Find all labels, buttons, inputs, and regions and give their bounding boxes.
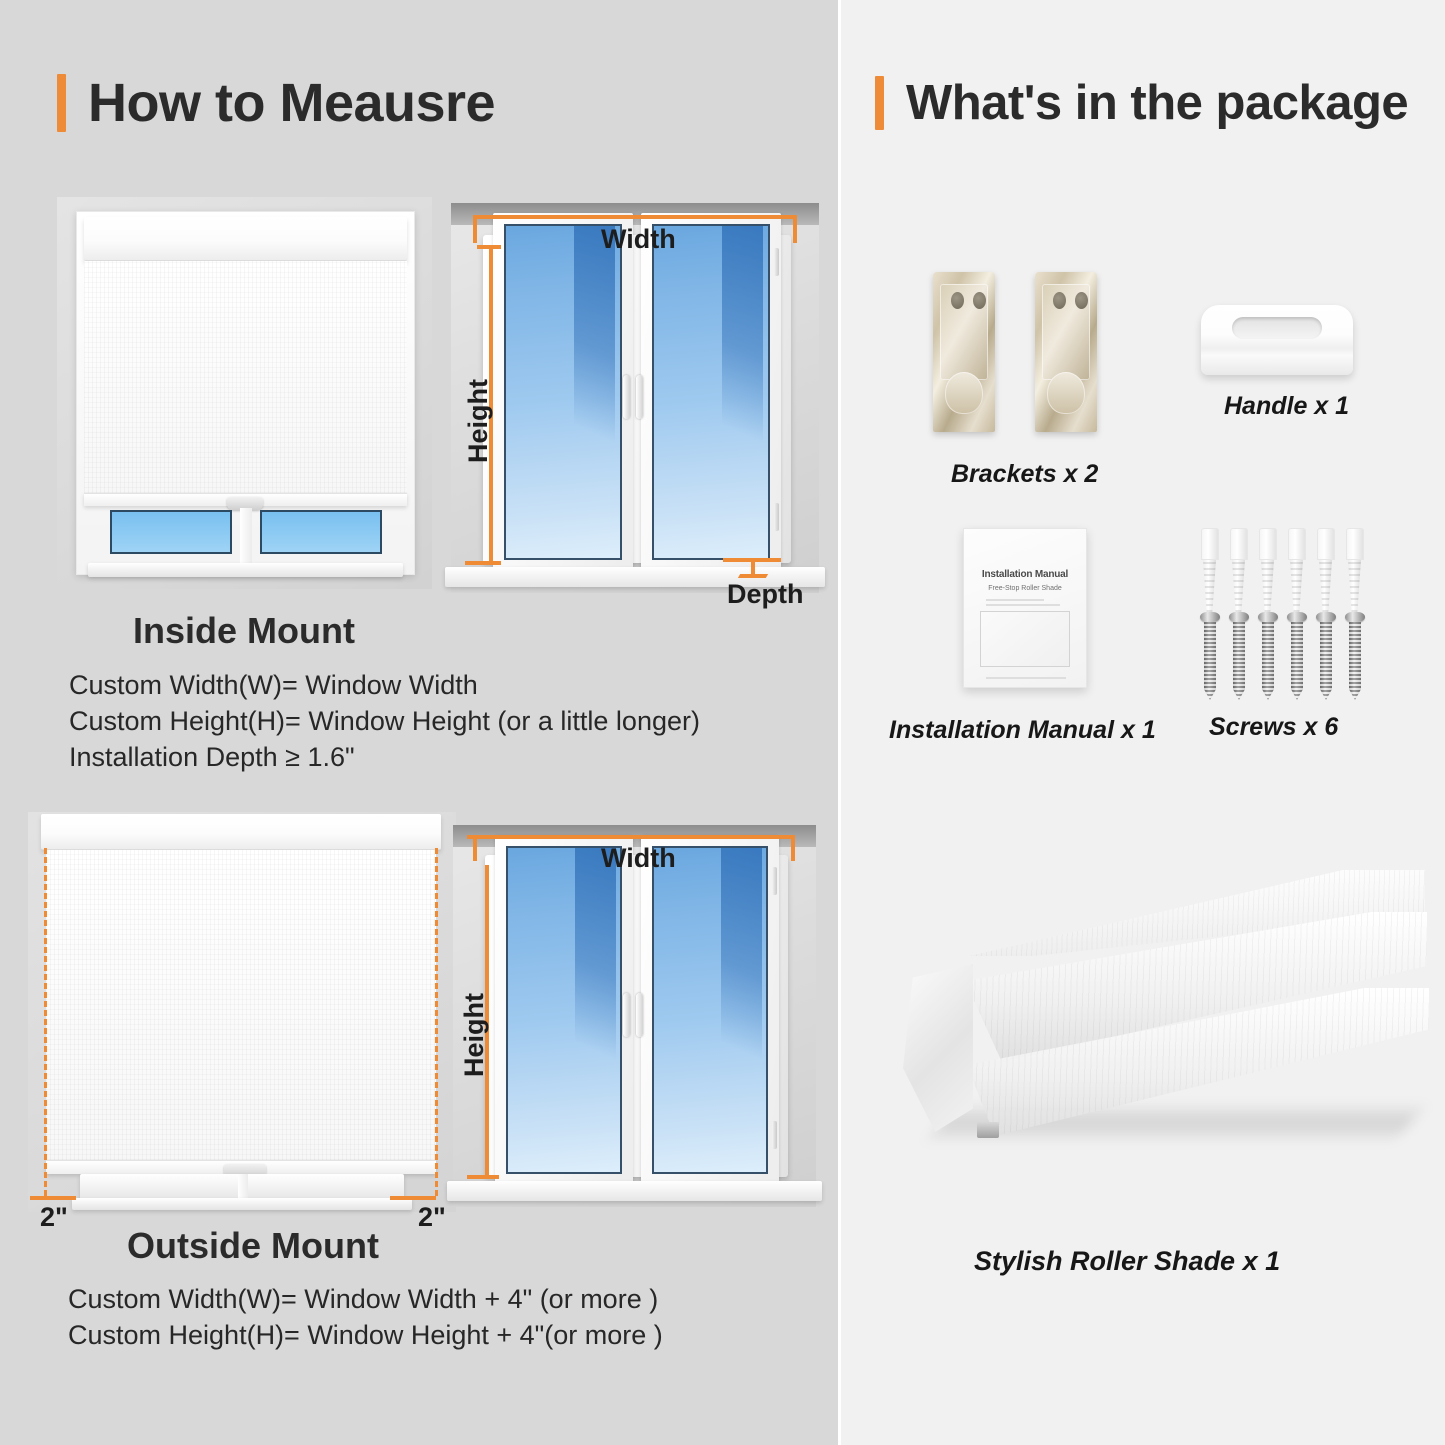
depth-measure-base — [738, 574, 768, 578]
bracket-icon — [1035, 272, 1097, 432]
package-heading: What's in the package — [875, 76, 1408, 130]
screw-icon — [1316, 612, 1336, 700]
overhang-guide-left — [44, 848, 47, 1196]
handle-icon — [623, 993, 630, 1037]
shade-fabric — [46, 850, 436, 1160]
how-to-measure-panel: How to Meausre — [0, 0, 838, 1445]
manual-cover-rule — [986, 604, 1060, 606]
window-glass-left — [504, 224, 622, 560]
width-measure-cap-right — [793, 215, 797, 243]
outside-mount-title: Outside Mount — [127, 1228, 379, 1264]
inside-mount-shade-illustration — [57, 197, 432, 589]
window-sill — [88, 563, 403, 577]
hinge-icon — [774, 248, 779, 276]
outside-mount-window-diagram: Width Height — [453, 825, 816, 1207]
manual-cover-rule — [986, 677, 1066, 679]
manual-icon: Installation Manual Free-Stop Roller Sha… — [963, 528, 1087, 688]
outside-mount-line-1: Custom Width(W)= Window Width + 4" (or m… — [68, 1286, 658, 1313]
window-glass-left — [506, 846, 622, 1174]
bracket-icon — [933, 272, 995, 432]
handle-icon — [623, 375, 630, 419]
accent-bar-icon — [875, 76, 884, 130]
manual-cover-rule — [986, 599, 1044, 601]
wall-anchor-icon — [1259, 528, 1277, 612]
inside-mount-window-diagram: Width Height Depth — [451, 203, 819, 593]
depth-label: Depth — [727, 581, 804, 608]
bracket-hole — [973, 292, 986, 309]
wall-anchor-icon — [1346, 528, 1364, 612]
height-label: Height — [461, 993, 488, 1077]
bracket-hole — [951, 292, 964, 309]
overhang-arrow-left — [30, 1196, 76, 1200]
outside-mount-line-2: Custom Height(H)= Window Height + 4"(or … — [68, 1322, 663, 1349]
window-mullion — [238, 1174, 248, 1200]
width-measure-cap-right — [791, 835, 795, 861]
handle-icon — [1201, 305, 1353, 375]
shade-fabric — [84, 261, 407, 493]
window-handles — [623, 375, 643, 419]
height-measure-cap-top — [467, 835, 499, 839]
manual-label: Installation Manual x 1 — [889, 718, 1156, 743]
shade-valance — [41, 814, 441, 850]
hinge-icon — [772, 1121, 777, 1149]
brackets-item — [931, 270, 1121, 450]
how-to-measure-title: How to Meausre — [88, 76, 495, 130]
height-measure-cap-top — [477, 245, 501, 249]
width-measure-line — [473, 835, 795, 839]
window-sill — [447, 1181, 822, 1201]
window-glass-right — [652, 846, 768, 1174]
window-sash-left — [493, 213, 633, 571]
brackets-label: Brackets x 2 — [951, 462, 1098, 487]
wall-anchor-icon — [1230, 528, 1248, 612]
hinge-icon — [772, 867, 777, 895]
window-sash-right — [641, 213, 781, 571]
width-measure-line — [473, 215, 797, 219]
window-mullion — [240, 508, 252, 570]
window-glass-right — [260, 510, 382, 554]
shade-valance — [84, 217, 407, 261]
window-sash-left — [495, 835, 633, 1185]
infographic-page: How to Meausre — [0, 0, 1445, 1445]
handle-icon — [636, 375, 643, 419]
overhang-arrow-right — [390, 1196, 436, 1200]
inside-mount-line-3: Installation Depth ≥ 1.6" — [69, 744, 355, 771]
window-handles — [623, 993, 643, 1037]
accent-bar-icon — [57, 74, 66, 132]
screw-icon — [1345, 612, 1365, 700]
width-label: Width — [601, 845, 676, 872]
screw-icon — [1287, 612, 1307, 700]
manual-cover-title: Installation Manual — [964, 569, 1086, 580]
screw-icon — [1229, 612, 1249, 700]
handle-label: Handle x 1 — [1224, 394, 1349, 419]
window-sash-right — [641, 835, 779, 1185]
inside-mount-line-2: Custom Height(H)= Window Height (or a li… — [69, 708, 700, 735]
overhang-label-left: 2" — [40, 1204, 68, 1231]
package-contents-panel: What's in the package Brackets x 2 Handl… — [838, 0, 1445, 1445]
height-measure-cap-bottom — [467, 1175, 499, 1179]
overhang-label-right: 2" — [418, 1204, 446, 1231]
hinge-icon — [774, 503, 779, 531]
overhang-guide-right — [435, 848, 438, 1196]
width-measure-cap-left — [473, 215, 477, 243]
width-label: Width — [601, 226, 676, 253]
wall-anchor-icon — [1317, 528, 1335, 612]
inside-mount-title: Inside Mount — [133, 613, 355, 649]
outside-mount-shade-illustration — [28, 812, 456, 1212]
roller-shade-label: Stylish Roller Shade x 1 — [974, 1248, 1280, 1275]
screw-icon — [1258, 612, 1278, 700]
how-to-measure-heading: How to Meausre — [57, 74, 495, 132]
screw-icon — [1200, 612, 1220, 700]
manual-cover-subtitle: Free-Stop Roller Shade — [964, 585, 1086, 592]
handle-grip-slot — [1232, 317, 1322, 339]
window-glass-right — [652, 224, 770, 560]
manual-cover-diagram — [980, 611, 1070, 667]
handle-icon — [636, 993, 643, 1037]
window-sill — [72, 1198, 412, 1210]
wall-anchor-icon — [1201, 528, 1219, 612]
screws-item — [1201, 528, 1371, 700]
bracket-hole — [1075, 292, 1088, 309]
height-measure-cap-bottom — [465, 561, 501, 565]
inside-mount-line-1: Custom Width(W)= Window Width — [69, 672, 478, 699]
shade-end-cap — [903, 964, 973, 1132]
shade-bottom-clip — [977, 1122, 999, 1138]
package-title: What's in the package — [906, 79, 1408, 128]
wall-anchor-icon — [1288, 528, 1306, 612]
bracket-hole — [1053, 292, 1066, 309]
screws-label: Screws x 6 — [1209, 715, 1338, 740]
roller-shade-icon — [881, 860, 1421, 1190]
window-glass-left — [110, 510, 232, 554]
height-label: Height — [465, 379, 492, 463]
